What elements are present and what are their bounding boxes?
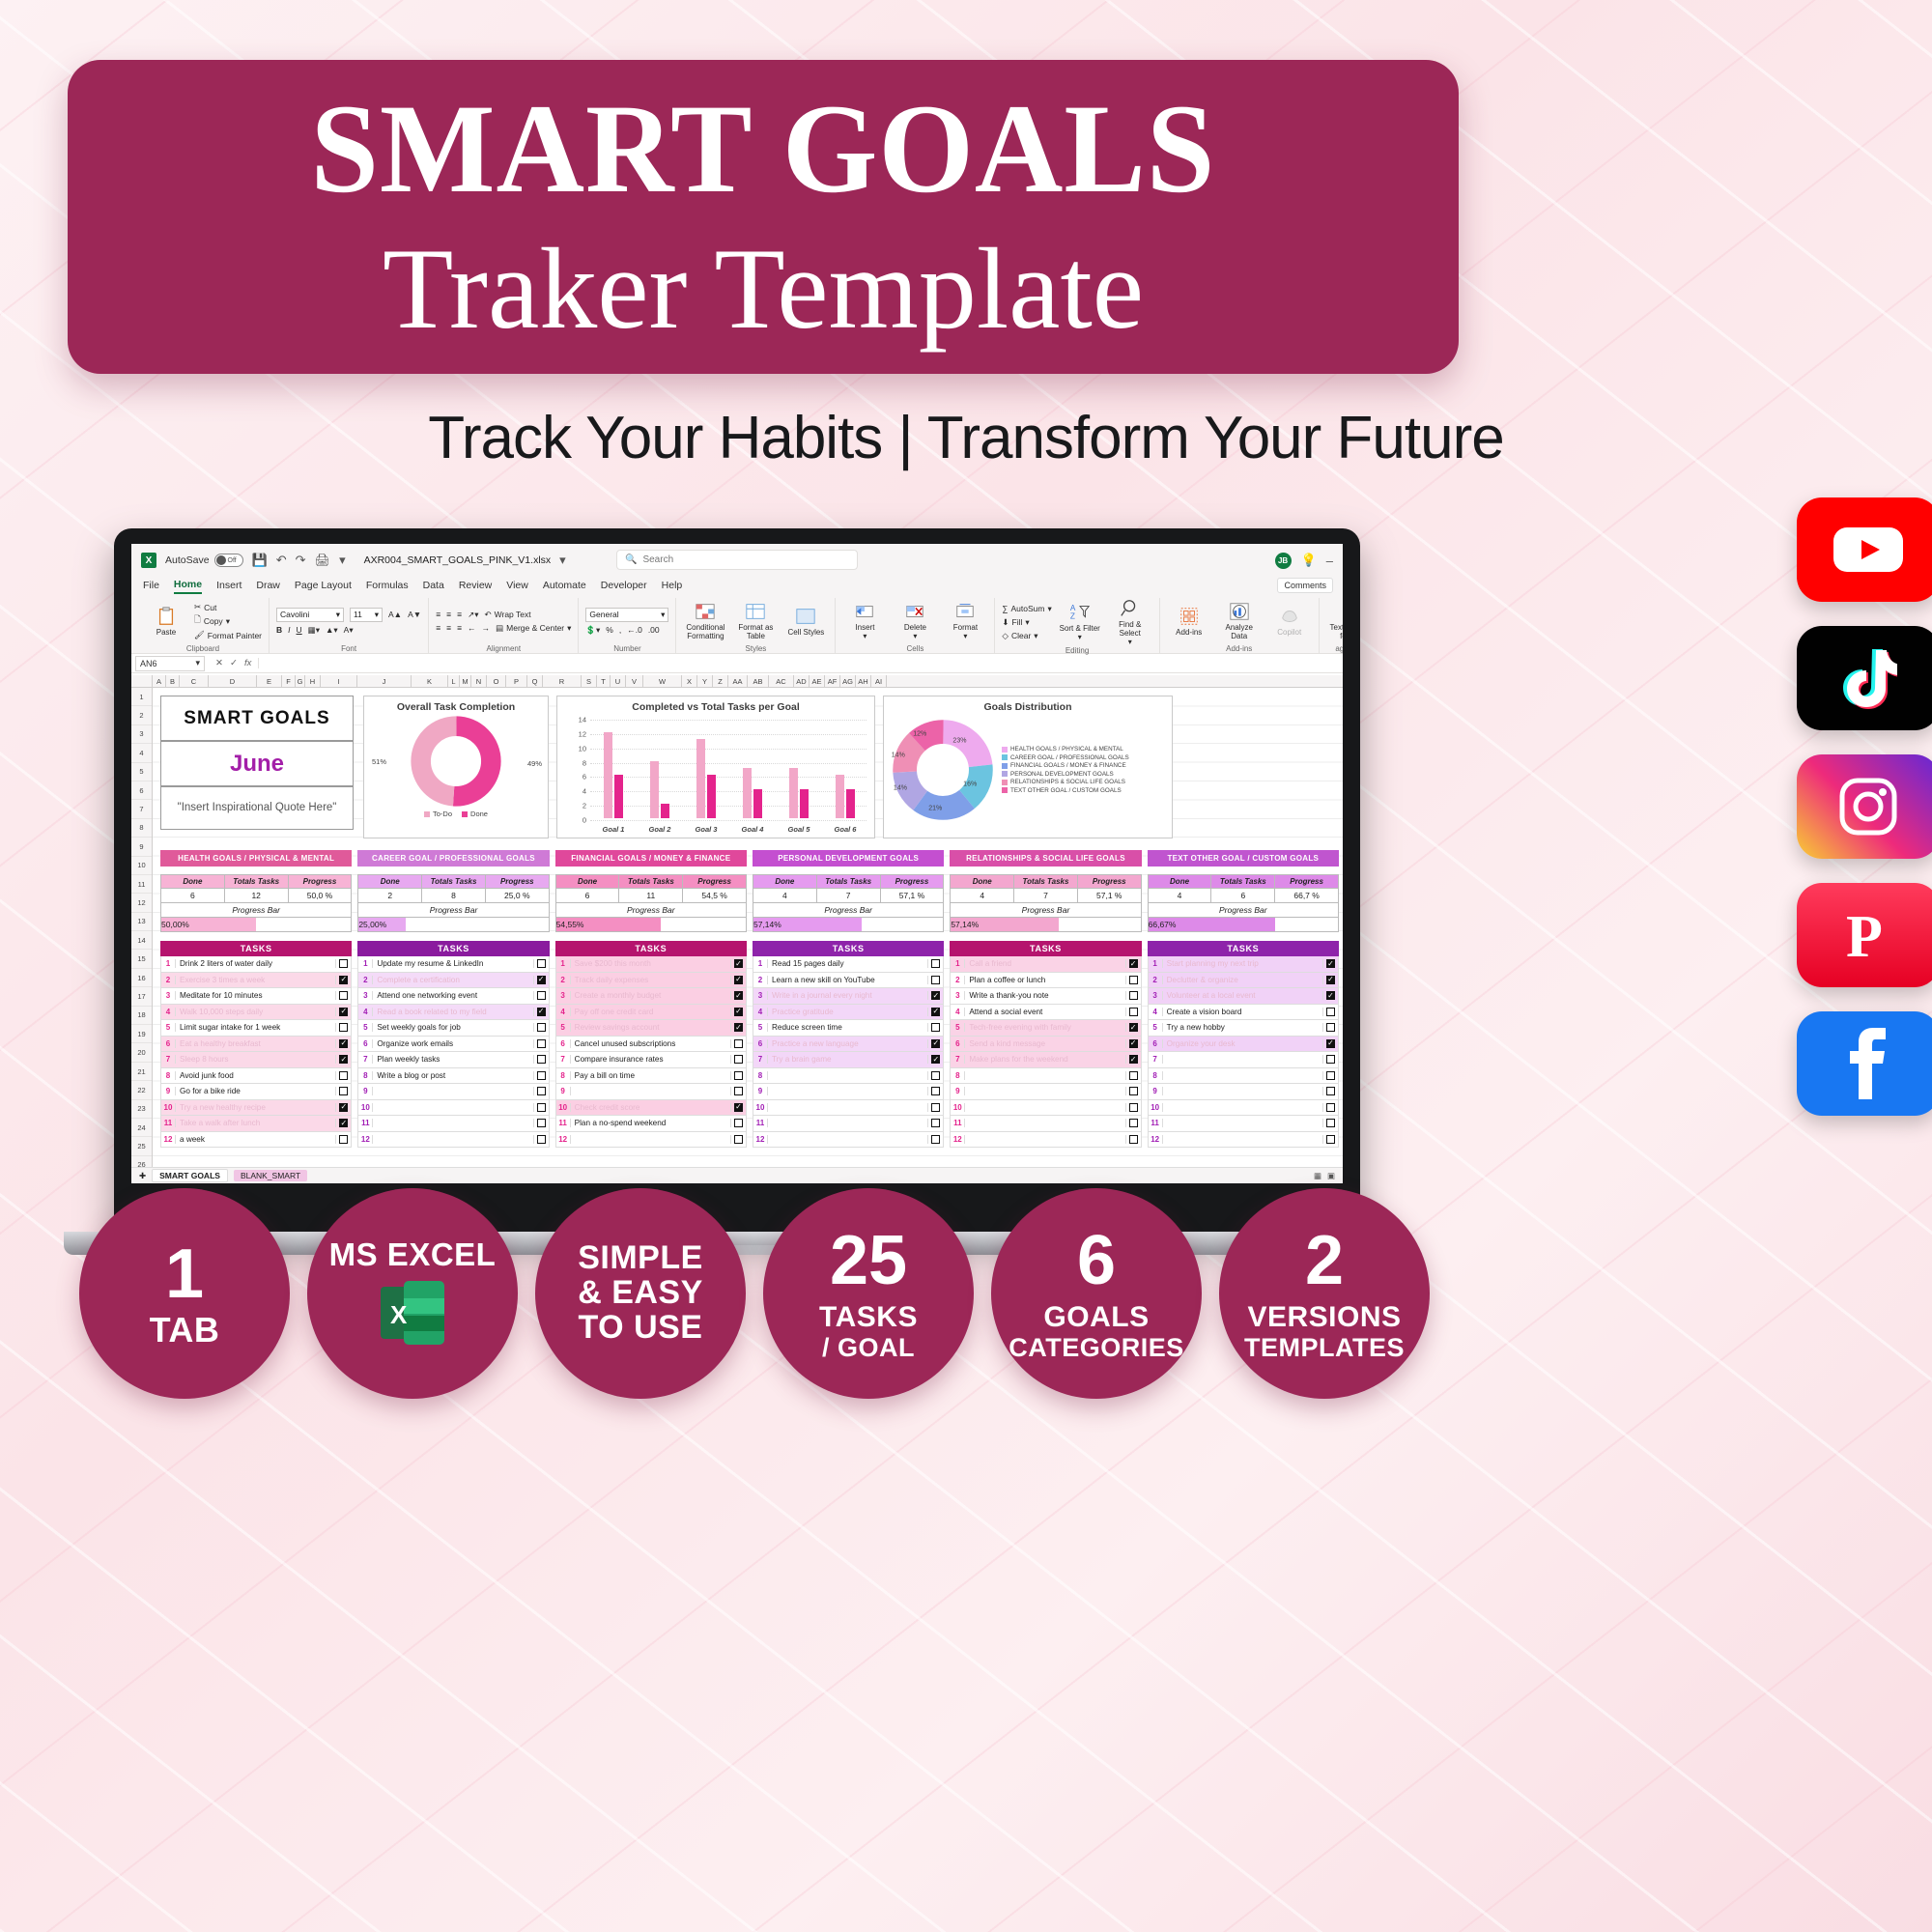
goal-4-task-checkbox-3[interactable]: ✓ bbox=[927, 991, 943, 1000]
goal-4-task-text-4[interactable]: Practice gratitude bbox=[768, 1008, 927, 1016]
goal-6-task-row-2[interactable]: 2Declutter & organize✓ bbox=[1148, 973, 1339, 989]
column-header-L[interactable]: L bbox=[448, 675, 460, 687]
goal-1-task-row-6[interactable]: 6Eat a healthy breakfast✓ bbox=[160, 1037, 352, 1053]
goal-5-task-checkbox-12[interactable] bbox=[1125, 1135, 1141, 1144]
goal-5-task-checkbox-8[interactable] bbox=[1125, 1071, 1141, 1080]
goal-4-task-row-11[interactable]: 11 bbox=[753, 1116, 944, 1132]
column-header-X[interactable]: X bbox=[682, 675, 697, 687]
goal-2-task-text-5[interactable]: Set weekly goals for job bbox=[373, 1023, 532, 1032]
column-header-AB[interactable]: AB bbox=[748, 675, 769, 687]
goal-1-task-row-4[interactable]: 4Walk 10,000 steps daily✓ bbox=[160, 1005, 352, 1021]
goal-6-val-3[interactable]: 66,7 % bbox=[1275, 889, 1338, 902]
goal-3-task-row-5[interactable]: 5Review savings account✓ bbox=[555, 1020, 747, 1037]
goal-6-task-checkbox-12[interactable] bbox=[1322, 1135, 1338, 1144]
column-header-W[interactable]: W bbox=[643, 675, 682, 687]
bold-button[interactable]: B bbox=[276, 625, 282, 635]
goal-6-task-row-7[interactable]: 7 bbox=[1148, 1052, 1339, 1068]
goal-1-task-text-3[interactable]: Meditate for 10 minutes bbox=[176, 991, 335, 1000]
goal-3-task-checkbox-8[interactable] bbox=[730, 1071, 746, 1080]
goal-6-task-checkbox-7[interactable] bbox=[1322, 1055, 1338, 1064]
ideas-icon[interactable]: 💡 bbox=[1301, 553, 1317, 568]
goal-2-task-checkbox-6[interactable] bbox=[533, 1039, 549, 1048]
goal-3-task-text-10[interactable]: Check credit score bbox=[571, 1103, 730, 1112]
goal-6-task-checkbox-8[interactable] bbox=[1322, 1071, 1338, 1080]
goal-1-task-row-3[interactable]: 3Meditate for 10 minutes bbox=[160, 988, 352, 1005]
cancel-icon[interactable]: ✕ bbox=[215, 658, 223, 668]
goal-6-task-row-12[interactable]: 12 bbox=[1148, 1132, 1339, 1149]
column-header-D[interactable]: D bbox=[209, 675, 257, 687]
tab-draw[interactable]: Draw bbox=[256, 580, 280, 593]
font-size-select[interactable]: 11▾ bbox=[350, 608, 383, 622]
goal-2-task-row-5[interactable]: 5Set weekly goals for job bbox=[357, 1020, 549, 1037]
autosave-toggle[interactable]: Off bbox=[214, 554, 243, 567]
goal-4-task-checkbox-7[interactable]: ✓ bbox=[927, 1055, 943, 1064]
goal-4-task-checkbox-8[interactable] bbox=[927, 1071, 943, 1080]
goal-3-task-row-8[interactable]: 8Pay a bill on time bbox=[555, 1068, 747, 1085]
goal-2-task-row-11[interactable]: 11 bbox=[357, 1116, 549, 1132]
quick-print-icon[interactable]: 🖨 bbox=[315, 553, 331, 568]
goal-5-task-text-4[interactable]: Attend a social event bbox=[965, 1008, 1124, 1016]
goal-1-task-checkbox-1[interactable] bbox=[335, 959, 351, 968]
column-header-E[interactable]: E bbox=[257, 675, 282, 687]
goal-1-task-row-7[interactable]: 7Sleep 8 hours✓ bbox=[160, 1052, 352, 1068]
goal-6-task-text-3[interactable]: Volunteer at a local event bbox=[1163, 991, 1322, 1000]
goal-6-task-text-2[interactable]: Declutter & organize bbox=[1163, 976, 1322, 984]
goal-3-task-row-3[interactable]: 3Create a monthly budget✓ bbox=[555, 988, 747, 1005]
goal-2-task-checkbox-1[interactable] bbox=[533, 959, 549, 968]
comments-button[interactable]: Comments bbox=[1277, 578, 1333, 593]
column-header-T[interactable]: T bbox=[597, 675, 611, 687]
goal-6-task-row-11[interactable]: 11 bbox=[1148, 1116, 1339, 1132]
row-header-23[interactable]: 23 bbox=[131, 1100, 152, 1119]
goal-1-task-checkbox-7[interactable]: ✓ bbox=[335, 1055, 351, 1064]
tab-page-layout[interactable]: Page Layout bbox=[295, 580, 352, 593]
paste-button[interactable]: Paste bbox=[144, 606, 188, 638]
goal-4-task-checkbox-6[interactable]: ✓ bbox=[927, 1039, 943, 1048]
row-header-13[interactable]: 13 bbox=[131, 913, 152, 931]
goal-4-task-row-1[interactable]: 1Read 15 pages daily bbox=[753, 956, 944, 973]
align-center-icon[interactable]: ≡ bbox=[446, 623, 451, 633]
goal-3-task-checkbox-5[interactable]: ✓ bbox=[730, 1023, 746, 1032]
social-youtube[interactable] bbox=[1797, 497, 1932, 602]
goal-4-task-row-2[interactable]: 2Learn a new skill on YouTube bbox=[753, 973, 944, 989]
goal-3-task-text-11[interactable]: Plan a no-spend weekend bbox=[571, 1119, 730, 1127]
goal-5-task-row-7[interactable]: 7Make plans for the weekend✓ bbox=[950, 1052, 1141, 1068]
column-header-B[interactable]: B bbox=[166, 675, 180, 687]
filename-chevron-icon[interactable]: ▾ bbox=[559, 553, 566, 568]
tab-help[interactable]: Help bbox=[662, 580, 683, 593]
goal-4-task-row-7[interactable]: 7Try a brain game✓ bbox=[753, 1052, 944, 1068]
goal-3-val-1[interactable]: 6 bbox=[556, 889, 620, 902]
column-header-Q[interactable]: Q bbox=[527, 675, 543, 687]
goal-4-task-text-2[interactable]: Learn a new skill on YouTube bbox=[768, 976, 927, 984]
goal-4-task-checkbox-5[interactable] bbox=[927, 1023, 943, 1032]
goal-2-task-text-7[interactable]: Plan weekly tasks bbox=[373, 1055, 532, 1064]
column-header-AF[interactable]: AF bbox=[825, 675, 840, 687]
goal-6-task-row-6[interactable]: 6Organize your desk✓ bbox=[1148, 1037, 1339, 1053]
row-header-9[interactable]: 9 bbox=[131, 838, 152, 856]
goal-6-task-text-1[interactable]: Start planning my next trip bbox=[1163, 959, 1322, 968]
goal-6-task-checkbox-1[interactable]: ✓ bbox=[1322, 959, 1338, 968]
page-layout-view-icon[interactable]: ▣ bbox=[1327, 1171, 1335, 1181]
row-header-20[interactable]: 20 bbox=[131, 1043, 152, 1062]
column-header-AA[interactable]: AA bbox=[728, 675, 748, 687]
column-header-I[interactable]: I bbox=[321, 675, 357, 687]
goal-5-task-row-1[interactable]: 1Call a friend✓ bbox=[950, 956, 1141, 973]
workbook-filename[interactable]: AXR004_SMART_GOALS_PINK_V1.xlsx bbox=[364, 554, 552, 566]
align-right-icon[interactable]: ≡ bbox=[457, 623, 462, 633]
goal-2-val-2[interactable]: 8 bbox=[422, 889, 486, 902]
align-bottom-icon[interactable]: ≡ bbox=[457, 610, 462, 619]
autosum-button[interactable]: ∑ AutoSum ▾ bbox=[1002, 604, 1051, 614]
row-header-25[interactable]: 25 bbox=[131, 1137, 152, 1155]
goal-5-task-text-2[interactable]: Plan a coffee or lunch bbox=[965, 976, 1124, 984]
goal-5-task-row-2[interactable]: 2Plan a coffee or lunch bbox=[950, 973, 1141, 989]
goal-2-val-3[interactable]: 25,0 % bbox=[486, 889, 549, 902]
fill-color-icon[interactable]: ▲▾ bbox=[326, 625, 338, 636]
goal-1-task-text-10[interactable]: Try a new healthy recipe bbox=[176, 1103, 335, 1112]
goal-4-task-row-3[interactable]: 3Write in a journal every night✓ bbox=[753, 988, 944, 1005]
column-header-F[interactable]: F bbox=[282, 675, 296, 687]
goal-5-task-checkbox-3[interactable] bbox=[1125, 991, 1141, 1000]
goal-4-task-checkbox-1[interactable] bbox=[927, 959, 943, 968]
goal-6-task-checkbox-10[interactable] bbox=[1322, 1103, 1338, 1112]
goal-1-task-text-4[interactable]: Walk 10,000 steps daily bbox=[176, 1008, 335, 1016]
goal-4-task-row-12[interactable]: 12 bbox=[753, 1132, 944, 1149]
goal-5-task-text-6[interactable]: Send a kind message bbox=[965, 1039, 1124, 1048]
redo-icon[interactable]: ↷ bbox=[296, 553, 306, 568]
social-pinterest[interactable]: P bbox=[1797, 883, 1932, 987]
goal-6-task-text-6[interactable]: Organize your desk bbox=[1163, 1039, 1322, 1048]
font-color-icon[interactable]: A▾ bbox=[344, 625, 354, 636]
goal-6-task-checkbox-9[interactable] bbox=[1322, 1087, 1338, 1095]
goal-5-val-1[interactable]: 4 bbox=[951, 889, 1014, 902]
goal-2-task-checkbox-12[interactable] bbox=[533, 1135, 549, 1144]
row-header-7[interactable]: 7 bbox=[131, 800, 152, 818]
column-header-K[interactable]: K bbox=[412, 675, 448, 687]
find-select-button[interactable]: Find & Select▾ bbox=[1108, 598, 1152, 646]
align-left-icon[interactable]: ≡ bbox=[436, 623, 440, 633]
chart-goals-distribution[interactable]: Goals Distribution 23%16%21%14%14%12% HE… bbox=[883, 696, 1173, 838]
align-top-icon[interactable]: ≡ bbox=[436, 610, 440, 619]
goal-2-task-row-3[interactable]: 3Attend one networking event bbox=[357, 988, 549, 1005]
goal-1-val-1[interactable]: 6 bbox=[161, 889, 225, 902]
column-header-G[interactable]: G bbox=[296, 675, 305, 687]
new-sheet-icon[interactable]: ✚ bbox=[139, 1171, 146, 1181]
goal-2-val-1[interactable]: 2 bbox=[358, 889, 422, 902]
column-header-N[interactable]: N bbox=[471, 675, 487, 687]
goal-6-task-row-4[interactable]: 4Create a vision board bbox=[1148, 1005, 1339, 1021]
goal-2-task-row-9[interactable]: 9 bbox=[357, 1084, 549, 1100]
column-header-M[interactable]: M bbox=[460, 675, 471, 687]
goal-2-task-row-8[interactable]: 8Write a blog or post bbox=[357, 1068, 549, 1085]
goal-3-task-text-3[interactable]: Create a monthly budget bbox=[571, 991, 730, 1000]
row-header-16[interactable]: 16 bbox=[131, 969, 152, 987]
column-header-V[interactable]: V bbox=[626, 675, 643, 687]
goal-5-task-row-6[interactable]: 6Send a kind message✓ bbox=[950, 1037, 1141, 1053]
addins-button[interactable]: Add-ins bbox=[1167, 606, 1211, 638]
goal-3-task-text-5[interactable]: Review savings account bbox=[571, 1023, 730, 1032]
goal-2-task-checkbox-9[interactable] bbox=[533, 1087, 549, 1095]
decrease-indent-icon[interactable]: ← bbox=[468, 623, 476, 633]
goal-4-task-checkbox-10[interactable] bbox=[927, 1103, 943, 1112]
goal-4-val-1[interactable]: 4 bbox=[753, 889, 817, 902]
goal-5-task-text-5[interactable]: Tech-free evening with family bbox=[965, 1023, 1124, 1032]
goal-5-task-text-1[interactable]: Call a friend bbox=[965, 959, 1124, 968]
goal-6-task-checkbox-6[interactable]: ✓ bbox=[1322, 1039, 1338, 1048]
goal-2-task-text-6[interactable]: Organize work emails bbox=[373, 1039, 532, 1048]
goal-6-task-row-1[interactable]: 1Start planning my next trip✓ bbox=[1148, 956, 1339, 973]
goal-5-task-checkbox-2[interactable] bbox=[1125, 976, 1141, 984]
goal-4-task-row-6[interactable]: 6Practice a new language✓ bbox=[753, 1037, 944, 1053]
row-header-3[interactable]: 3 bbox=[131, 725, 152, 744]
goal-5-task-checkbox-5[interactable]: ✓ bbox=[1125, 1023, 1141, 1032]
tab-automate[interactable]: Automate bbox=[543, 580, 586, 593]
goal-4-task-checkbox-11[interactable] bbox=[927, 1119, 943, 1127]
goal-3-task-row-4[interactable]: 4Pay off one credit card✓ bbox=[555, 1005, 747, 1021]
goal-3-task-text-1[interactable]: Save $200 this month bbox=[571, 959, 730, 968]
goal-1-task-checkbox-12[interactable] bbox=[335, 1135, 351, 1144]
insert-function-icon[interactable]: fx bbox=[244, 658, 251, 668]
goal-3-task-checkbox-6[interactable] bbox=[730, 1039, 746, 1048]
goal-3-task-text-2[interactable]: Track daily expenses bbox=[571, 976, 730, 984]
goal-2-task-text-3[interactable]: Attend one networking event bbox=[373, 991, 532, 1000]
sheet-tab-blank-smart[interactable]: BLANK_SMART bbox=[234, 1170, 307, 1181]
goal-2-task-checkbox-10[interactable] bbox=[533, 1103, 549, 1112]
sheet-canvas[interactable]: SMART GOALS June "Insert Inspirational Q… bbox=[153, 688, 1343, 1183]
goal-1-task-checkbox-8[interactable] bbox=[335, 1071, 351, 1080]
tab-view[interactable]: View bbox=[506, 580, 528, 593]
goal-4-task-row-4[interactable]: 4Practice gratitude✓ bbox=[753, 1005, 944, 1021]
goal-2-task-checkbox-11[interactable] bbox=[533, 1119, 549, 1127]
goal-4-task-row-8[interactable]: 8 bbox=[753, 1068, 944, 1085]
goal-6-task-row-5[interactable]: 5Try a new hobby bbox=[1148, 1020, 1339, 1037]
goal-3-task-row-6[interactable]: 6Cancel unused subscriptions bbox=[555, 1037, 747, 1053]
column-header-C[interactable]: C bbox=[180, 675, 209, 687]
goal-4-task-checkbox-9[interactable] bbox=[927, 1087, 943, 1095]
column-header-P[interactable]: P bbox=[506, 675, 527, 687]
row-header-2[interactable]: 2 bbox=[131, 706, 152, 724]
goal-3-task-checkbox-11[interactable] bbox=[730, 1119, 746, 1127]
goal-5-task-checkbox-6[interactable]: ✓ bbox=[1125, 1039, 1141, 1048]
undo-icon[interactable]: ↶ bbox=[276, 553, 287, 568]
goal-3-task-row-9[interactable]: 9 bbox=[555, 1084, 747, 1100]
comma-style-icon[interactable]: , bbox=[619, 625, 621, 635]
goal-2-task-checkbox-3[interactable] bbox=[533, 991, 549, 1000]
goal-5-task-row-3[interactable]: 3Write a thank-you note bbox=[950, 988, 1141, 1005]
currency-icon[interactable]: 💲▾ bbox=[585, 625, 600, 636]
goal-3-task-row-1[interactable]: 1Save $200 this month✓ bbox=[555, 956, 747, 973]
goal-2-task-checkbox-8[interactable] bbox=[533, 1071, 549, 1080]
fill-button[interactable]: ⬇ Fill ▾ bbox=[1002, 617, 1051, 628]
goal-1-task-row-11[interactable]: 11Take a walk after lunch✓ bbox=[160, 1116, 352, 1132]
column-header-Y[interactable]: Y bbox=[697, 675, 713, 687]
goal-6-task-row-3[interactable]: 3Volunteer at a local event✓ bbox=[1148, 988, 1339, 1005]
goal-1-task-checkbox-11[interactable]: ✓ bbox=[335, 1119, 351, 1127]
goal-5-task-checkbox-10[interactable] bbox=[1125, 1103, 1141, 1112]
tab-file[interactable]: File bbox=[143, 580, 159, 593]
column-header-J[interactable]: J bbox=[357, 675, 412, 687]
social-facebook[interactable] bbox=[1797, 1011, 1932, 1116]
goal-5-task-checkbox-4[interactable] bbox=[1125, 1008, 1141, 1016]
row-header-22[interactable]: 22 bbox=[131, 1081, 152, 1099]
goal-5-task-row-12[interactable]: 12 bbox=[950, 1132, 1141, 1149]
goal-2-task-row-6[interactable]: 6Organize work emails bbox=[357, 1037, 549, 1053]
select-all-corner[interactable] bbox=[131, 675, 153, 687]
increase-font-icon[interactable]: A▲ bbox=[388, 610, 402, 619]
goal-1-task-checkbox-2[interactable]: ✓ bbox=[335, 976, 351, 984]
goal-2-task-checkbox-7[interactable] bbox=[533, 1055, 549, 1064]
row-header-18[interactable]: 18 bbox=[131, 1007, 152, 1025]
goal-4-task-text-6[interactable]: Practice a new language bbox=[768, 1039, 927, 1048]
tab-home[interactable]: Home bbox=[174, 579, 202, 594]
column-header-AE[interactable]: AE bbox=[810, 675, 825, 687]
goal-1-val-3[interactable]: 50,0 % bbox=[289, 889, 352, 902]
format-painter-button[interactable]: 🖌 Format Painter bbox=[194, 630, 262, 640]
wrap-text-button[interactable]: ↶ Wrap Text bbox=[485, 610, 531, 620]
column-header-S[interactable]: S bbox=[582, 675, 597, 687]
minimize-icon[interactable]: – bbox=[1326, 554, 1333, 568]
row-header-24[interactable]: 24 bbox=[131, 1119, 152, 1137]
goal-5-val-3[interactable]: 57,1 % bbox=[1078, 889, 1141, 902]
row-header-4[interactable]: 4 bbox=[131, 744, 152, 762]
goal-2-task-row-1[interactable]: 1Update my resume & LinkedIn bbox=[357, 956, 549, 973]
copy-button[interactable]: 🗋 Copy ▾ bbox=[194, 614, 262, 628]
goal-4-task-text-5[interactable]: Reduce screen time bbox=[768, 1023, 927, 1032]
column-header-U[interactable]: U bbox=[611, 675, 626, 687]
goal-6-task-row-9[interactable]: 9 bbox=[1148, 1084, 1339, 1100]
goal-3-task-row-7[interactable]: 7Compare insurance rates bbox=[555, 1052, 747, 1068]
copilot-button[interactable]: Copilot bbox=[1267, 606, 1312, 638]
goal-4-task-text-1[interactable]: Read 15 pages daily bbox=[768, 959, 927, 968]
increase-decimal-icon[interactable]: ←.0 bbox=[627, 625, 642, 635]
row-header-19[interactable]: 19 bbox=[131, 1025, 152, 1043]
goal-3-task-checkbox-9[interactable] bbox=[730, 1087, 746, 1095]
goal-6-val-2[interactable]: 6 bbox=[1211, 889, 1275, 902]
sheet-month[interactable]: June bbox=[160, 741, 354, 786]
goal-1-task-row-10[interactable]: 10Try a new healthy recipe✓ bbox=[160, 1100, 352, 1117]
delete-cells-button[interactable]: Delete▾ bbox=[893, 601, 937, 641]
percent-style-icon[interactable]: % bbox=[606, 625, 613, 635]
goal-3-task-text-8[interactable]: Pay a bill on time bbox=[571, 1071, 730, 1080]
format-as-table-button[interactable]: Format as Table bbox=[733, 601, 778, 641]
goal-1-task-checkbox-4[interactable]: ✓ bbox=[335, 1008, 351, 1016]
tab-developer[interactable]: Developer bbox=[601, 580, 647, 593]
customize-qat-icon[interactable]: ▾ bbox=[339, 553, 346, 568]
decrease-font-icon[interactable]: A▼ bbox=[408, 610, 421, 619]
goal-1-val-2[interactable]: 12 bbox=[225, 889, 289, 902]
goal-3-task-text-4[interactable]: Pay off one credit card bbox=[571, 1008, 730, 1016]
goal-4-task-row-9[interactable]: 9 bbox=[753, 1084, 944, 1100]
goal-1-task-row-1[interactable]: 1Drink 2 liters of water daily bbox=[160, 956, 352, 973]
goal-4-val-3[interactable]: 57,1 % bbox=[881, 889, 944, 902]
cell-styles-button[interactable]: Cell Styles bbox=[783, 606, 828, 638]
row-header-17[interactable]: 17 bbox=[131, 987, 152, 1006]
goal-3-task-checkbox-12[interactable] bbox=[730, 1135, 746, 1144]
goal-6-val-1[interactable]: 4 bbox=[1149, 889, 1212, 902]
goal-5-task-row-5[interactable]: 5Tech-free evening with family✓ bbox=[950, 1020, 1141, 1037]
goal-6-task-checkbox-3[interactable]: ✓ bbox=[1322, 991, 1338, 1000]
goal-2-task-checkbox-2[interactable]: ✓ bbox=[533, 976, 549, 984]
goal-5-task-row-8[interactable]: 8 bbox=[950, 1068, 1141, 1085]
goal-1-task-text-9[interactable]: Go for a bike ride bbox=[176, 1087, 335, 1095]
sheet-tab-smart-goals[interactable]: SMART GOALS bbox=[152, 1169, 228, 1182]
sort-filter-button[interactable]: AZ Sort & Filter▾ bbox=[1058, 598, 1102, 646]
row-header-1[interactable]: 1 bbox=[131, 688, 152, 706]
decrease-decimal-icon[interactable]: .00 bbox=[648, 625, 660, 635]
column-header-A[interactable]: A bbox=[153, 675, 166, 687]
goal-3-task-text-6[interactable]: Cancel unused subscriptions bbox=[571, 1039, 730, 1048]
column-header-O[interactable]: O bbox=[487, 675, 506, 687]
goal-5-task-row-11[interactable]: 11 bbox=[950, 1116, 1141, 1132]
goal-1-task-text-11[interactable]: Take a walk after lunch bbox=[176, 1119, 335, 1127]
goal-5-task-checkbox-1[interactable]: ✓ bbox=[1125, 959, 1141, 968]
goal-3-task-row-11[interactable]: 11Plan a no-spend weekend bbox=[555, 1116, 747, 1132]
goal-6-task-checkbox-4[interactable] bbox=[1322, 1008, 1338, 1016]
column-header-AG[interactable]: AG bbox=[840, 675, 856, 687]
column-header-AH[interactable]: AH bbox=[856, 675, 871, 687]
enter-icon[interactable]: ✓ bbox=[230, 658, 238, 668]
insert-cells-button[interactable]: Insert▾ bbox=[842, 601, 887, 641]
row-header-5[interactable]: 5 bbox=[131, 763, 152, 781]
goal-1-task-row-8[interactable]: 8Avoid junk food bbox=[160, 1068, 352, 1085]
conditional-formatting-button[interactable]: Conditional Formatting bbox=[683, 601, 727, 641]
goal-4-task-row-5[interactable]: 5Reduce screen time bbox=[753, 1020, 944, 1037]
goal-1-task-checkbox-9[interactable] bbox=[335, 1087, 351, 1095]
tab-formulas[interactable]: Formulas bbox=[366, 580, 409, 593]
social-instagram[interactable] bbox=[1797, 754, 1932, 859]
merge-center-button[interactable]: ▤ Merge & Center ▾ bbox=[496, 623, 571, 634]
goal-6-task-checkbox-2[interactable]: ✓ bbox=[1322, 976, 1338, 984]
goal-2-task-row-10[interactable]: 10 bbox=[357, 1100, 549, 1117]
goal-4-task-checkbox-2[interactable] bbox=[927, 976, 943, 984]
chart-completed-vs-total[interactable]: Completed vs Total Tasks per Goal 024681… bbox=[556, 696, 875, 838]
normal-view-icon[interactable]: ▦ bbox=[1314, 1171, 1321, 1181]
row-header-10[interactable]: 10 bbox=[131, 857, 152, 875]
goal-5-task-row-9[interactable]: 9 bbox=[950, 1084, 1141, 1100]
goal-2-task-row-2[interactable]: 2Complete a certification✓ bbox=[357, 973, 549, 989]
goal-3-task-checkbox-4[interactable]: ✓ bbox=[730, 1008, 746, 1016]
goal-3-val-2[interactable]: 11 bbox=[619, 889, 683, 902]
italic-button[interactable]: I bbox=[288, 625, 290, 635]
goal-2-task-row-4[interactable]: 4Read a book related to my field✓ bbox=[357, 1005, 549, 1021]
goal-3-task-checkbox-2[interactable]: ✓ bbox=[730, 976, 746, 984]
row-header-12[interactable]: 12 bbox=[131, 894, 152, 912]
borders-icon[interactable]: ▦▾ bbox=[308, 625, 320, 636]
column-header-H[interactable]: H bbox=[305, 675, 321, 687]
goal-2-task-checkbox-5[interactable] bbox=[533, 1023, 549, 1032]
cut-button[interactable]: ✂ Cut bbox=[194, 602, 262, 612]
goal-5-task-checkbox-9[interactable] bbox=[1125, 1087, 1141, 1095]
tab-review[interactable]: Review bbox=[459, 580, 492, 593]
goal-1-task-text-1[interactable]: Drink 2 liters of water daily bbox=[176, 959, 335, 968]
goal-5-task-text-7[interactable]: Make plans for the weekend bbox=[965, 1055, 1124, 1064]
align-middle-icon[interactable]: ≡ bbox=[446, 610, 451, 619]
goal-3-task-checkbox-3[interactable]: ✓ bbox=[730, 991, 746, 1000]
column-header-AI[interactable]: AI bbox=[871, 675, 887, 687]
row-header-14[interactable]: 14 bbox=[131, 931, 152, 950]
row-header-15[interactable]: 15 bbox=[131, 950, 152, 968]
goal-1-task-row-5[interactable]: 5Limit sugar intake for 1 week bbox=[160, 1020, 352, 1037]
goal-1-task-checkbox-3[interactable] bbox=[335, 991, 351, 1000]
goal-5-val-2[interactable]: 7 bbox=[1014, 889, 1078, 902]
column-header-AD[interactable]: AD bbox=[794, 675, 810, 687]
goal-1-task-row-12[interactable]: 12a week bbox=[160, 1132, 352, 1149]
autosave-control[interactable]: AutoSave Off bbox=[165, 554, 243, 567]
analyze-data-button[interactable]: Analyze Data bbox=[1217, 601, 1262, 641]
row-header-6[interactable]: 6 bbox=[131, 781, 152, 800]
row-header-11[interactable]: 11 bbox=[131, 875, 152, 894]
